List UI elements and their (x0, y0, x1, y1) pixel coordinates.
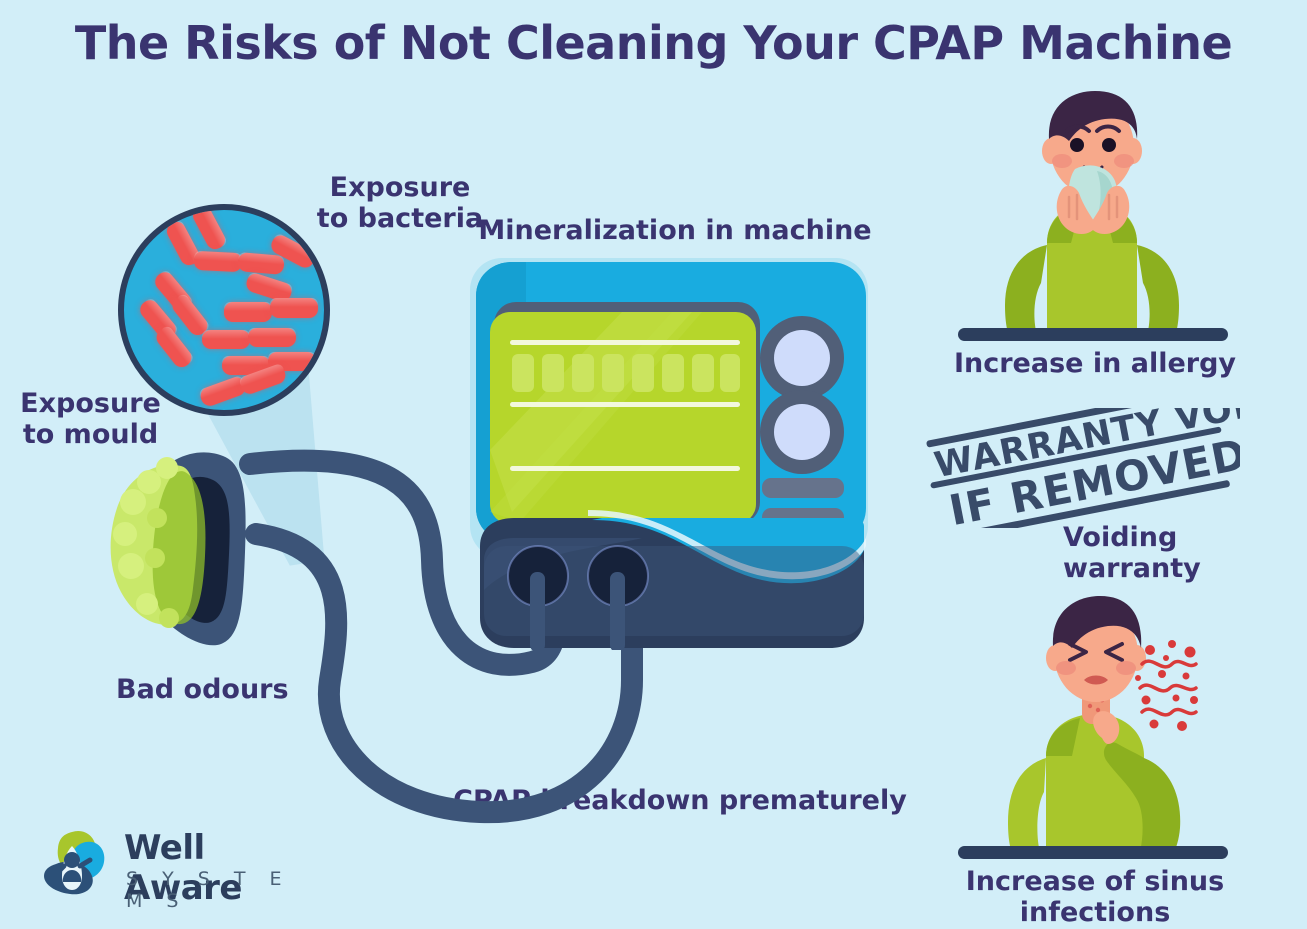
person-sneezing-icon (985, 85, 1200, 335)
label-increase-sinus: Increase of sinus infections (890, 866, 1300, 929)
mould-growth-icon (111, 457, 206, 628)
well-aware-logo-mark (36, 824, 110, 898)
bacteria-rod (224, 302, 272, 322)
bacteria-rod (202, 330, 250, 349)
bacteria-rod (190, 204, 228, 252)
bacteria-rod (194, 251, 243, 272)
bacteria-rod (153, 324, 195, 370)
label-voiding-warranty: Voiding warranty (1063, 522, 1307, 585)
allergy-floor-bar (958, 328, 1228, 341)
person-sore-throat-icon (990, 592, 1205, 852)
infographic-canvas: The Risks of Not Cleaning Your CPAP Mach… (0, 0, 1307, 924)
label-mineralization: Mineralization in machine (455, 215, 895, 246)
bacteria-rod (237, 252, 284, 275)
bacteria-rod (270, 298, 318, 318)
cpap-mask-icon (95, 438, 325, 668)
cpap-machine-icon (462, 250, 882, 650)
logo-subtitle: S Y S T E M S (126, 868, 326, 912)
page-title: The Risks of Not Cleaning Your CPAP Mach… (0, 16, 1307, 70)
logo[interactable]: Well Aware S Y S T E M S (36, 824, 326, 904)
warranty-void-stamp-icon: WARRANTY VOID IF REMOVED (920, 408, 1240, 528)
bacteria-rod (248, 328, 296, 347)
germ-waves-icon (1140, 661, 1196, 715)
bacteria-circle (118, 204, 330, 416)
label-increase-in-allergy: Increase in allergy (930, 348, 1260, 379)
sinus-floor-bar (958, 846, 1228, 859)
